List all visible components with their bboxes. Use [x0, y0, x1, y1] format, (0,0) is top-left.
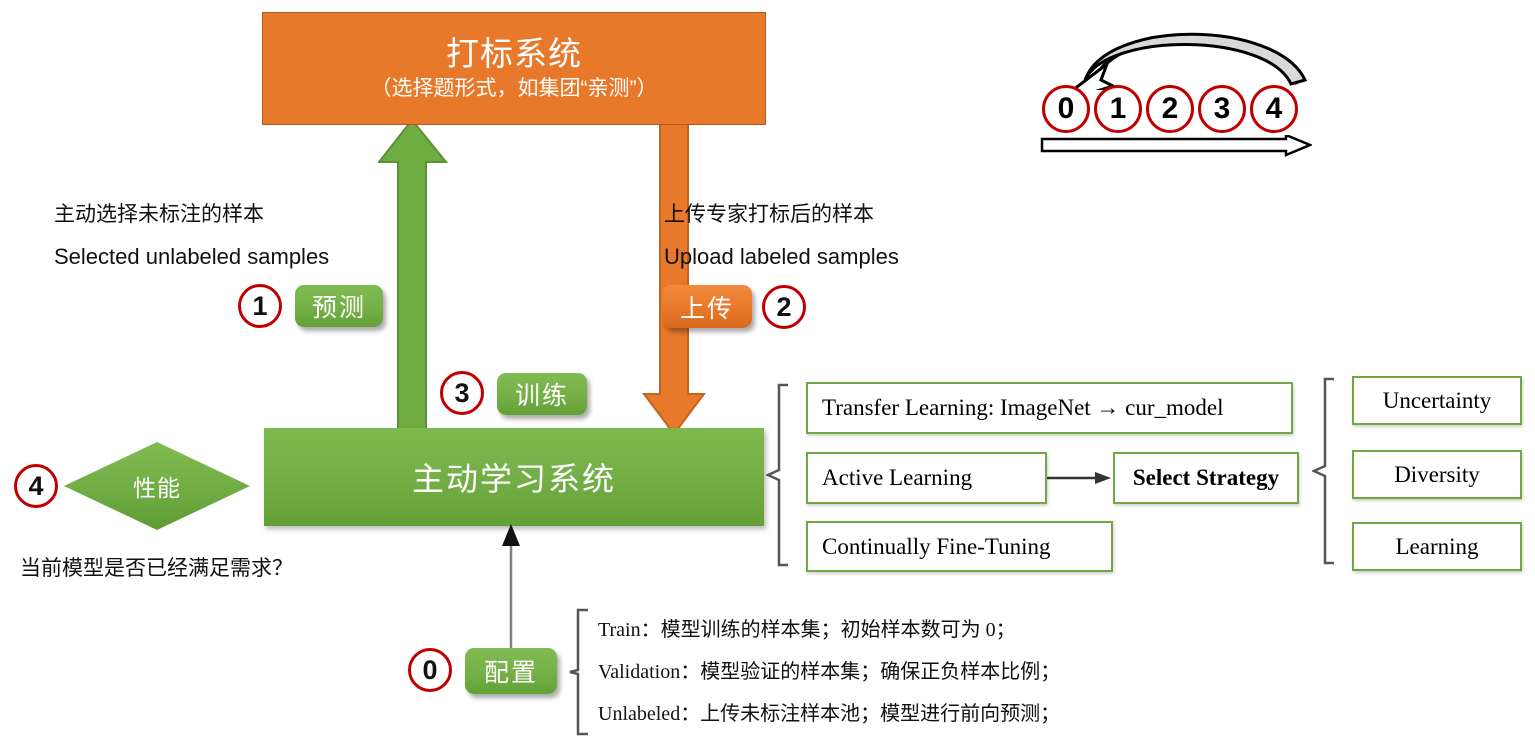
select-strategy-box[interactable]: Select Strategy [1113, 452, 1299, 504]
step-badge-1: 1 [238, 284, 282, 328]
strategy-box-continually-fine-tuning[interactable]: Continually Fine-Tuning [806, 521, 1113, 572]
performance-question: 当前模型是否已经满足需求？ [20, 552, 293, 582]
config-brace [568, 608, 594, 736]
active-learning-to-strategy-arrow [1047, 468, 1113, 488]
upload-button[interactable]: 上传 [662, 285, 752, 328]
strategy-group-brace [766, 382, 796, 568]
labeling-system-subtitle: （选择题形式，如集团“亲测”） [371, 74, 658, 104]
strategy-box-transfer-learning[interactable]: Transfer Learning: ImageNet → cur_model [806, 382, 1293, 434]
criteria-box-diversity[interactable]: Diversity [1352, 450, 1522, 499]
sequence-number-4: 4 [1250, 85, 1298, 133]
step-badge-3: 3 [440, 371, 484, 415]
right-flow-caption-en: Upload labeled samples [664, 244, 899, 270]
active-learning-system-title: 主动学习系统 [412, 454, 616, 500]
active-learning-system-box: 主动学习系统 [264, 428, 764, 526]
right-flow-caption-cn: 上传专家打标后的样本 [664, 198, 874, 228]
predict-button[interactable]: 预测 [295, 285, 383, 327]
step-badge-2: 2 [762, 285, 806, 329]
diagram-canvas: 打标系统 （选择题形式，如集团“亲测”） 0 1 2 3 4 主动选择未标注的样… [0, 0, 1535, 743]
loop-arrow-icon [1055, 18, 1325, 90]
sequence-number-3: 3 [1198, 85, 1246, 133]
criteria-group-brace [1312, 376, 1342, 566]
config-to-system-connector [496, 524, 526, 664]
config-line-0: Train：模型训练的样本集；初始样本数可为 0； [598, 613, 1016, 642]
performance-diamond-label: 性能 [62, 440, 252, 532]
step-badge-0: 0 [408, 648, 452, 692]
labeling-system-title: 打标系统 [446, 34, 582, 74]
labeling-system-box: 打标系统 （选择题形式，如集团“亲测”） [262, 12, 766, 125]
sequence-number-2: 2 [1146, 85, 1194, 133]
config-line-2: Unlabeled：上传未标注样本池；模型进行前向预测； [598, 697, 1060, 726]
performance-diamond: 性能 [62, 440, 252, 532]
sequence-number-0: 0 [1042, 85, 1090, 133]
sequence-number-1: 1 [1094, 85, 1142, 133]
train-button[interactable]: 训练 [497, 373, 587, 415]
config-line-1: Validation：模型验证的样本集；确保正负样本比例； [598, 655, 1060, 684]
strategy-box-active-learning[interactable]: Active Learning [806, 452, 1047, 504]
step-sequence: 0 1 2 3 4 [1042, 85, 1298, 133]
step-badge-4: 4 [14, 464, 58, 508]
upload-flow-arrow [640, 118, 706, 436]
sequence-direction-arrow-icon [1040, 135, 1312, 159]
criteria-box-uncertainty[interactable]: Uncertainty [1352, 376, 1522, 425]
config-button[interactable]: 配置 [465, 648, 557, 694]
left-flow-caption-cn: 主动选择未标注的样本 [54, 198, 264, 228]
left-flow-caption-en: Selected unlabeled samples [54, 244, 329, 270]
criteria-box-learning[interactable]: Learning [1352, 522, 1522, 571]
